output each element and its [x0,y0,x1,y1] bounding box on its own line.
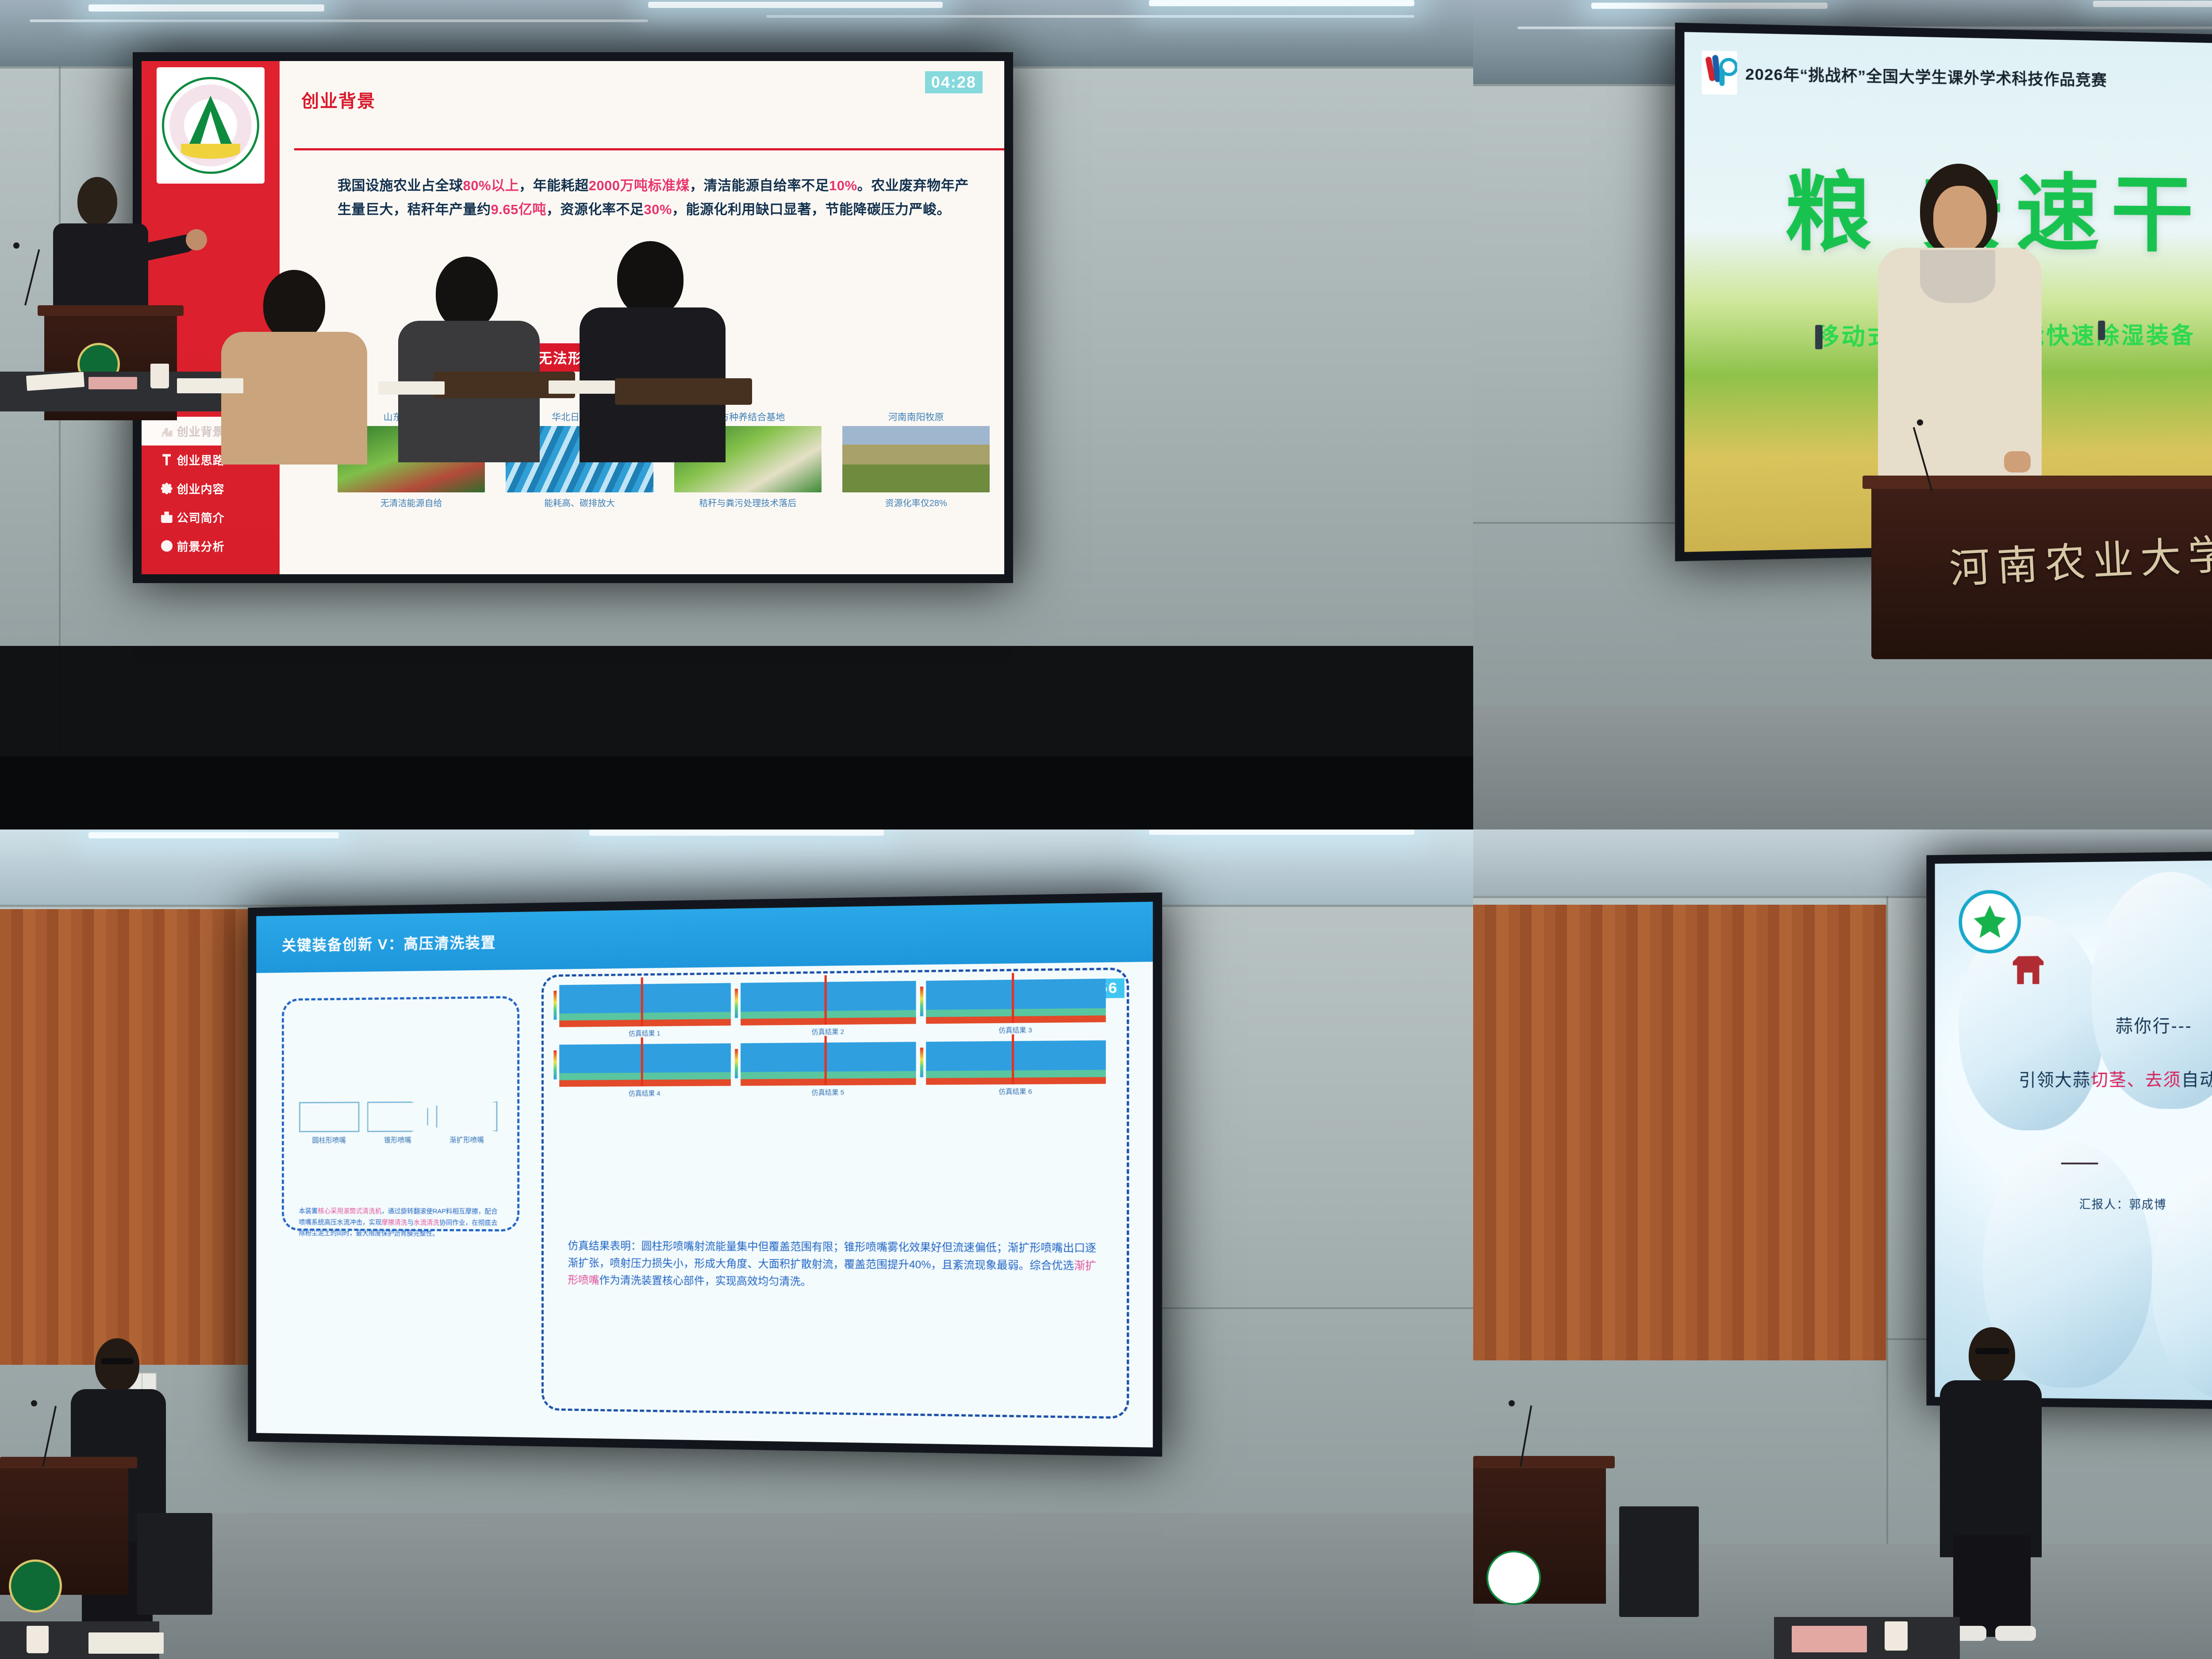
panel-top-left: 创业背景 创业思路 创业内容 [0,0,1473,829]
ceiling-light [1591,3,1828,9]
presenter-shoe [1995,1626,2036,1641]
document [88,1632,164,1654]
nozzle-item: 锥形喷嘴 [367,1102,428,1145]
slide-cleaning-device: 关键装备创新 V：高压清洗装置 01:56 圆柱形喷嘴 [256,902,1153,1448]
microphone-head [1509,1400,1515,1406]
subtitle-seg: 自动化新进程 [2181,1070,2212,1090]
chair [615,378,752,405]
sidebar-item-label: 创业思路 [177,452,225,468]
subtitle-seg-highlight: 切茎、去须 [2091,1071,2181,1090]
presenter-head [77,177,117,226]
para-seg: ，能源化利用缺口显著，节能降碳压力严峻。 [672,202,951,217]
conical-nozzle-icon [367,1102,428,1132]
wall-outlet [142,1373,157,1391]
simulation-label: 仿真结果 5 [741,1087,916,1097]
note-seg-highlight: 核心采用滚筒式清洗机 [318,1207,381,1215]
podium-top [38,305,184,316]
sidebar-item-prospect[interactable]: 前景分析 [142,532,280,561]
case-card-subcaption: 能耗高、碳排放大 [506,496,653,509]
room-bottom-left: 关键装备创新 V：高压清洗装置 01:56 圆柱形喷嘴 [0,829,1473,1659]
case-card-subcaption: 资源化率仅28% [842,496,990,509]
cfd-plot [559,983,731,1027]
simulation-cell: 仿真结果 4 [559,1043,731,1098]
challenge-cup-logo-icon [1701,50,1737,95]
cfd-plot [559,1043,731,1087]
collage-stage: 创业背景 创业思路 创业内容 [0,0,2212,1659]
case-card-subcaption: 无清洁能源自给 [338,496,485,509]
conclusion-seg: 作为清洗装置核心部件，实现高效均匀清洗。 [599,1274,812,1287]
presenter-face [1933,186,1986,252]
audience-head [436,257,498,330]
simulation-cell: 仿真结果 1 [559,983,731,1039]
cup [150,364,169,388]
nozzle-item: 圆柱形喷嘴 [299,1102,360,1144]
para-seg-highlight: 80%以上 [463,178,519,193]
bar-chart-icon [161,425,173,437]
para-seg: ，清洁能源自给率不足 [690,178,829,193]
background-paragraph: 我国设施农业占全球80%以上，年能耗超2000万吨标准煤，清洁能源自给率不足10… [338,174,983,222]
cylindrical-nozzle-icon [299,1102,360,1132]
colorbar [553,991,557,1020]
audience-body [221,332,367,465]
note-seg: 与 [407,1219,414,1226]
simulation-grid: 仿真结果 1 仿真结果 2 仿真结果 3 [559,979,1106,1098]
room-top-left: 创业背景 创业思路 创业内容 [0,0,1473,829]
simulation-label: 仿真结果 3 [926,1025,1106,1036]
slide-header-label: 关键装备创新 V：高压清洗装置 [282,930,496,955]
cfd-plot [926,979,1106,1024]
presenter-head [1969,1327,2015,1382]
slide-header-bar: 关键装备创新 V：高压清洗装置 [256,902,1153,973]
sidebar-item-label: 公司简介 [177,509,225,526]
competition-banner: 2026年“挑战杯”全国大学生课外学术科技作品竞赛 [1701,50,2107,100]
speaker-box [1619,1506,1699,1617]
building-icon [161,511,173,523]
nozzle-item: 渐扩形喷嘴 [436,1101,498,1144]
lightbulb-icon [161,454,173,465]
document [88,377,137,389]
note-seg: 本装置 [299,1207,318,1215]
diverging-nozzle-icon [436,1101,498,1132]
podium-top [0,1457,137,1468]
document [177,378,243,393]
floor [0,1513,1473,1659]
speaker-box [137,1513,212,1615]
note-seg-highlight: 摩擦清洗 [382,1219,407,1226]
panel-top-right: 2026年“挑战杯”全国大学生课外学术科技作品竞赛 挑战杯 粮 安速干 移动式小… [1473,0,2212,829]
wheat-gear-emblem-icon [1959,890,2021,954]
para-seg: ，年能耗超 [519,178,589,193]
subtitle-seg: 引领大蒜 [2019,1071,2091,1090]
left-description-text: 本装置核心采用滚筒式清洗机，通过旋转翻滚使RAP料相互摩擦，配合喷嘴系统高压水流… [299,1206,498,1239]
room-bottom-right: 蒜你行--- 引领大蒜切茎、去须自动化新进程 汇报人：郭成博 [1473,829,2212,1659]
panel-bottom-left: 关键装备创新 V：高压清洗装置 01:56 圆柱形喷嘴 [0,829,1473,1659]
banner-title: 2026年“挑战杯”全国大学生课外学术科技作品竞赛 [1745,61,2107,91]
document [1792,1626,1867,1652]
case-card: 河南南阳牧原 资源化率仅28% [842,410,990,509]
university-logo [157,67,264,184]
ceiling-light [589,829,884,836]
conclusion-seg: 仿真结果表明：圆柱形喷嘴射流能量集中但覆盖范围有限；锥形喷嘴雾化效果好但流速偏低… [568,1240,1096,1272]
sidebar-item-content[interactable]: 创业内容 [142,474,280,503]
slide-cover-garlic: 蒜你行--- 引领大蒜切茎、去须自动化新进程 汇报人：郭成博 [1935,853,2212,1408]
sidebar-item-company[interactable]: 公司简介 [142,503,280,532]
slide-left-area: 蒜你行--- 引领大蒜切茎、去须自动化新进程 汇报人：郭成博 [1935,856,2212,1404]
divider-line [2061,1163,2098,1164]
colorbar [735,1049,738,1078]
cup [27,1626,49,1653]
sidebar-item-label: 前景分析 [177,538,225,554]
microphone-head [1917,419,1923,426]
colorbar [920,1048,923,1077]
presenter-legs [1953,1535,2031,1637]
ceiling-light [88,4,324,12]
cover-subtitle: 引领大蒜切茎、去须自动化新进程 [2019,1065,2212,1091]
sidebar-item-label: 创业内容 [177,480,225,497]
simulation-cell: 仿真结果 5 [741,1042,916,1098]
para-seg-highlight: 10% [829,178,857,193]
nozzle-label: 圆柱形喷嘴 [299,1134,360,1145]
sidebar-item-label: 创业背景 [177,423,225,439]
presenter-glasses-icon [101,1358,134,1364]
microphone-head [31,1400,37,1406]
gear-icon [161,483,173,494]
para-seg: ，资源化率不足 [546,202,644,217]
nozzle-label: 渐扩形喷嘴 [436,1134,498,1144]
para-seg-highlight: 2000万吨标准煤 [589,178,690,193]
projector-screen: 关键装备创新 V：高压清洗装置 01:56 圆柱形喷嘴 [248,892,1162,1456]
nozzle-label: 锥形喷嘴 [367,1134,428,1144]
presenter-hand [2004,451,2031,472]
para-seg: 我国设施农业占全球 [338,178,463,193]
room-top-right: 2026年“挑战杯”全国大学生课外学术科技作品竞赛 挑战杯 粮 安速干 移动式小… [1473,0,2212,829]
colorbar [553,1051,557,1079]
simulation-label: 仿真结果 1 [559,1028,731,1038]
globe-icon [161,540,173,552]
conclusion-text: 仿真结果表明：圆柱形喷嘴射流能量集中但覆盖范围有限；锥形喷嘴雾化效果好但流速偏低… [568,1238,1096,1293]
case-card-image [842,426,990,492]
simulation-cell: 仿真结果 6 [926,1041,1106,1097]
note-seg-highlight: 水流清洗 [414,1219,439,1226]
ceiling-light [88,832,339,838]
para-seg-highlight: 9.65亿吨 [491,202,546,217]
simulation-cell: 仿真结果 3 [926,979,1106,1035]
audience-head [617,241,684,316]
podium-seal [1486,1551,1541,1605]
presenter-label: 汇报人：郭成博 [2079,1195,2167,1212]
audience-head [263,270,325,341]
microphone-head [13,242,19,249]
university-emblem-icon [162,77,259,174]
podium-top [1863,476,2212,489]
wood-wall [1473,905,1886,1360]
cfd-plot [926,1041,1106,1085]
presenter-collar [1920,250,1995,303]
title-divider [294,148,1004,150]
presenter-body [1940,1380,2042,1557]
simulation-label: 仿真结果 4 [559,1088,731,1098]
cover-title: 蒜你行--- [2116,1012,2193,1037]
slide-title-row: 创业背景 [301,87,990,112]
document [378,381,445,395]
simulation-label: 仿真结果 6 [926,1086,1106,1096]
document [549,380,615,394]
para-seg-highlight: 30% [644,202,672,217]
cfd-plot [741,981,916,1025]
case-card-subcaption: 秸秆与粪污处理技术落后 [674,496,822,509]
case-card-caption: 河南南阳牧原 [842,410,990,423]
ceiling-light [1149,0,1414,6]
slide-surface: 蒜你行--- 引领大蒜切茎、去须自动化新进程 汇报人：郭成博 [1935,853,2212,1408]
page-title: 创业背景 [301,87,990,112]
nozzle-diagram-row: 圆柱形喷嘴 锥形喷嘴 渐扩形喷嘴 [299,1101,498,1145]
panel-bottom-right: 蒜你行--- 引领大蒜切茎、去须自动化新进程 汇报人：郭成博 [1473,829,2212,1659]
slide-surface: 关键装备创新 V：高压清洗装置 01:56 圆柱形喷嘴 [256,902,1153,1448]
ceiling-light [648,2,943,8]
projector-screen: 蒜你行--- 引领大蒜切茎、去须自动化新进程 汇报人：郭成博 [1926,843,2212,1417]
presenter-hand [186,229,207,250]
podium-top [1473,1456,1615,1468]
simulation-label: 仿真结果 2 [741,1026,916,1037]
ceiling-light [2093,1,2212,7]
simulation-cell: 仿真结果 2 [741,981,916,1037]
colorbar [735,989,738,1018]
colorbar [920,987,923,1016]
ceiling-light [1149,829,1414,835]
cup [1885,1621,1908,1651]
presenter-glasses-icon [1975,1348,2009,1354]
presenter-head [95,1338,139,1391]
floor [1473,706,2212,829]
cfd-plot [741,1042,916,1086]
podium-seal [9,1559,62,1613]
countdown-timer: 04:28 [925,71,983,93]
